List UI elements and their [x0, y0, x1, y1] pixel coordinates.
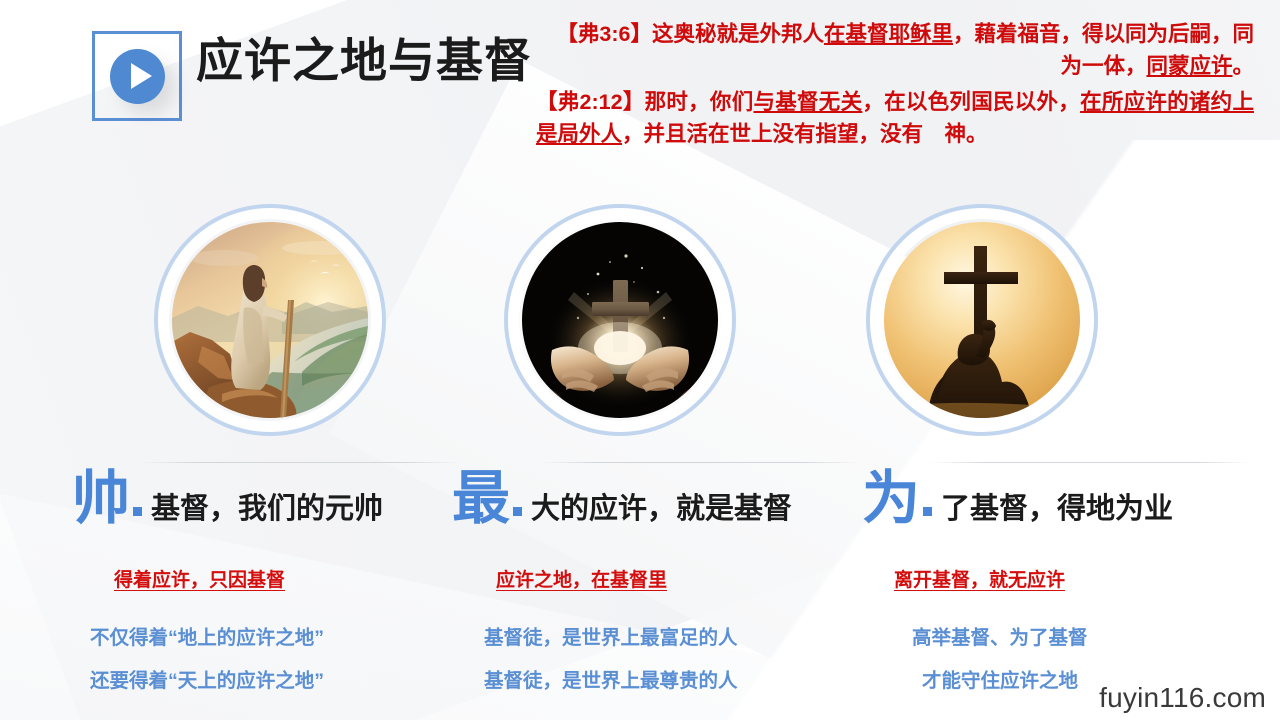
headline-column-2: 最 大的应许，就是基督: [452, 470, 792, 528]
scripture-verse-2-underline-a: 与基督无关: [753, 90, 862, 114]
site-watermark: fuyin116.com: [1099, 682, 1266, 714]
photo-image-3: [884, 222, 1080, 418]
divider-2: [540, 462, 860, 463]
page-title: 应许之地与基督: [196, 37, 532, 84]
headline-key-2: 最: [452, 470, 510, 528]
divider-1: [140, 462, 460, 463]
scripture-verse-1: 【弗3:6】这奥秘就是外邦人在基督耶稣里，藉着福音，得以同为后嗣，同为一体，同蒙…: [536, 18, 1254, 82]
headline-dot-1: [133, 507, 142, 516]
scripture-verse-1-underline-b: 同蒙应许: [1146, 54, 1232, 78]
scripture-block: 【弗3:6】这奥秘就是外邦人在基督耶稣里，藉着福音，得以同为后嗣，同为一体，同蒙…: [536, 18, 1254, 154]
headline-rest-1: 基督，我们的元帅: [151, 495, 383, 524]
scripture-verse-1-ref: 【弗3:6】: [556, 22, 652, 46]
body-line-1-1: 不仅得着“地上的应许之地”: [90, 621, 324, 650]
play-triangle-icon: [131, 63, 152, 89]
body-line-2-1: 基督徒，是世界上最富足的人: [484, 621, 738, 650]
slide-canvas: 应许之地与基督 【弗3:6】这奥秘就是外邦人在基督耶稣里，藉着福音，得以同为后嗣…: [0, 0, 1280, 720]
scripture-verse-1-part-a: 这奥秘就是外邦人: [652, 22, 824, 46]
scripture-verse-1-underline-a: 在基督耶稣里: [824, 22, 953, 46]
body-line-3-2: 才能守住应许之地: [922, 664, 1078, 693]
headline-column-1: 帅 基督，我们的元帅: [72, 470, 383, 528]
headline-column-3: 为 了基督，得地为业: [862, 470, 1173, 528]
background-band-2: [329, 60, 1280, 720]
sub-heading-1: 得着应许，只因基督: [114, 565, 285, 592]
headline-key-1: 帅: [72, 470, 130, 528]
scripture-verse-1-part-c: 。: [1232, 54, 1254, 78]
photo-silhouette-praying-at-cross: [884, 222, 1080, 418]
scripture-verse-2: 【弗2:12】那时，你们与基督无关，在以色列国民以外，在所应许的诸约上是局外人，…: [536, 86, 1254, 150]
photo-glowing-cross-in-hands: [522, 222, 718, 418]
headline-rest-2: 大的应许，就是基督: [531, 495, 792, 524]
photo-image-2: [522, 222, 718, 418]
divider-3: [930, 462, 1250, 463]
photo-jesus-overlooking-valley: [172, 222, 368, 418]
sub-heading-3: 离开基督，就无应许: [894, 565, 1065, 592]
headline-dot-3: [923, 507, 932, 516]
headline-dot-2: [513, 507, 522, 516]
scripture-verse-2-part-a: 那时，你们: [645, 90, 754, 114]
sub-heading-2: 应许之地，在基督里: [496, 565, 667, 592]
scripture-verse-2-part-c: ，并且活在世上没有指望，没有 神。: [622, 122, 988, 146]
body-line-3-1: 高举基督、为了基督: [912, 621, 1088, 650]
photo-image-1: [172, 222, 368, 418]
body-line-2-2: 基督徒，是世界上最尊贵的人: [484, 664, 738, 693]
scripture-verse-2-ref: 【弗2:12】: [536, 90, 645, 114]
headline-rest-3: 了基督，得地为业: [941, 495, 1173, 524]
scripture-verse-2-part-b: ，在以色列国民以外，: [862, 90, 1080, 114]
headline-key-3: 为: [862, 470, 920, 528]
body-line-1-2: 还要得着“天上的应许之地”: [90, 664, 324, 693]
